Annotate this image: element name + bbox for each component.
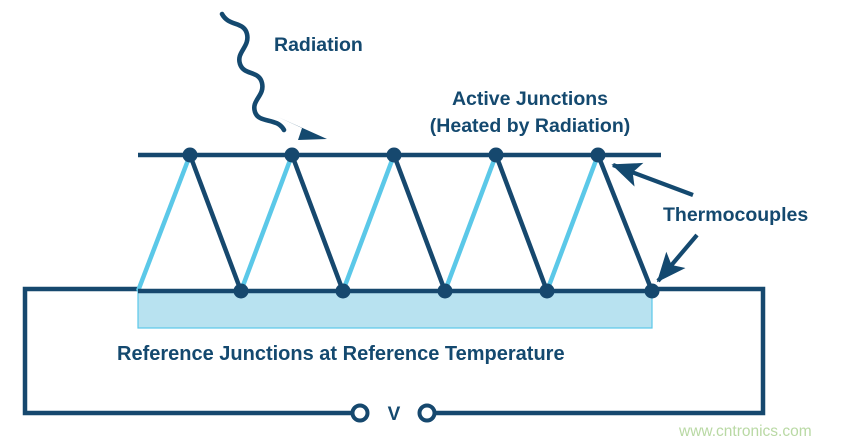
active-junction-node	[183, 148, 198, 163]
thermopile-diagram: Radiation Active Junctions (Heated by Ra…	[0, 0, 857, 445]
active-junction-node	[387, 148, 402, 163]
thermocouple-zigzag-group	[138, 155, 652, 291]
active-junction-node	[591, 148, 606, 163]
thermocouple-leg-navy-1	[292, 155, 343, 291]
voltage-label: V	[388, 404, 401, 425]
watermark-text: www.cntronics.com	[678, 423, 812, 440]
thermocouple-arrow-top-icon	[613, 165, 693, 195]
radiation-arrow-group	[222, 14, 327, 140]
active-junction-node	[285, 148, 300, 163]
thermocouple-leg-cyan-2	[343, 155, 394, 291]
thermocouple-arrow-bottom-icon	[658, 235, 697, 281]
terminal-right-icon	[420, 406, 435, 421]
thermocouples-label: Thermocouples	[663, 204, 808, 226]
reference-junction-node	[234, 284, 249, 299]
thermocouple-leg-cyan-0	[138, 155, 190, 291]
active-junctions-label-line1: Active Junctions	[452, 88, 608, 110]
reference-junction-block	[138, 291, 652, 328]
diagram-canvas: Radiation Active Junctions (Heated by Ra…	[0, 0, 857, 445]
thermocouple-leg-navy-3	[496, 155, 547, 291]
radiation-squiggle-icon	[222, 14, 284, 130]
terminal-left-icon	[353, 406, 368, 421]
active-junction-node	[489, 148, 504, 163]
thermocouple-leg-cyan-4	[547, 155, 598, 291]
reference-junction-node	[438, 284, 453, 299]
thermocouple-leg-navy-0	[190, 155, 241, 291]
thermocouple-leg-cyan-3	[445, 155, 496, 291]
active-junctions-label-line2: (Heated by Radiation)	[430, 115, 630, 137]
thermocouple-leg-cyan-1	[241, 155, 292, 291]
radiation-label: Radiation	[274, 34, 363, 56]
thermocouple-leg-navy-2	[394, 155, 445, 291]
reference-block-group	[138, 291, 652, 328]
reference-junctions-label: Reference Junctions at Reference Tempera…	[117, 343, 565, 365]
reference-junction-node	[336, 284, 351, 299]
reference-junction-node	[540, 284, 555, 299]
reference-junction-node	[645, 284, 660, 299]
